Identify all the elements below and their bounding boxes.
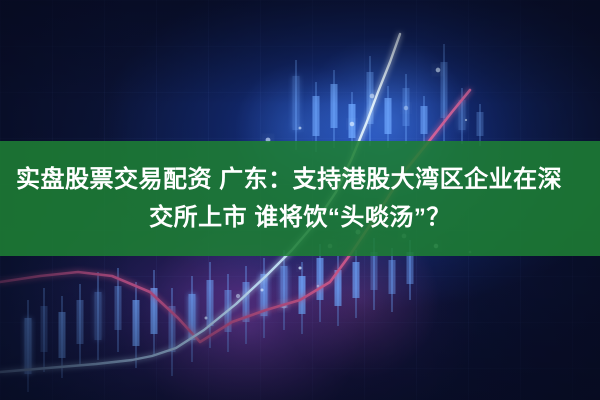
candlestick-body xyxy=(133,300,140,346)
spark-dot xyxy=(236,294,240,298)
candlestick-body xyxy=(389,260,396,294)
spark-dot xyxy=(299,127,302,130)
spark-dot xyxy=(261,289,264,292)
spark-dot xyxy=(436,68,441,73)
spark-dot xyxy=(350,122,355,127)
candlestick-body xyxy=(207,280,214,326)
headline-line-1: 实盘股票交易配资 广东：支持港股大湾区企业在深 xyxy=(8,161,562,199)
candlestick-body xyxy=(385,98,392,134)
candlestick-body xyxy=(317,258,324,300)
candlestick-body xyxy=(299,276,306,314)
candlestick-body xyxy=(313,96,320,136)
candlestick-body xyxy=(77,300,84,344)
candlestick-body xyxy=(477,112,484,136)
spark-dot xyxy=(370,94,375,99)
candlestick-body xyxy=(349,104,356,138)
spark-dot xyxy=(317,285,320,288)
candlestick-body xyxy=(441,62,448,118)
candlestick-body xyxy=(371,252,378,290)
promo-banner-image: 实盘股票交易配资 广东：支持港股大湾区企业在深 交所上市 谁将饮“头啖汤”？ xyxy=(0,0,600,400)
headline-banner: 实盘股票交易配资 广东：支持港股大湾区企业在深 交所上市 谁将饮“头啖汤”？ xyxy=(0,141,600,256)
spark-dot xyxy=(205,317,208,320)
candlestick-body xyxy=(115,286,122,330)
headline-line-2: 交所上市 谁将饮“头啖汤”？ xyxy=(149,199,451,237)
candlestick-body xyxy=(281,266,288,308)
candlestick-body xyxy=(59,312,66,358)
candlestick-body xyxy=(353,262,360,298)
spark-dot xyxy=(465,119,467,121)
candlestick-body xyxy=(25,318,32,374)
candlestick-body xyxy=(421,106,428,134)
spark-dot xyxy=(404,106,408,110)
spark-dot xyxy=(299,267,302,270)
candlestick-body xyxy=(407,252,414,284)
candlestick-body xyxy=(331,84,338,128)
candlestick-body xyxy=(41,306,48,352)
candlestick-body xyxy=(293,76,300,130)
candlestick-body xyxy=(95,292,102,340)
